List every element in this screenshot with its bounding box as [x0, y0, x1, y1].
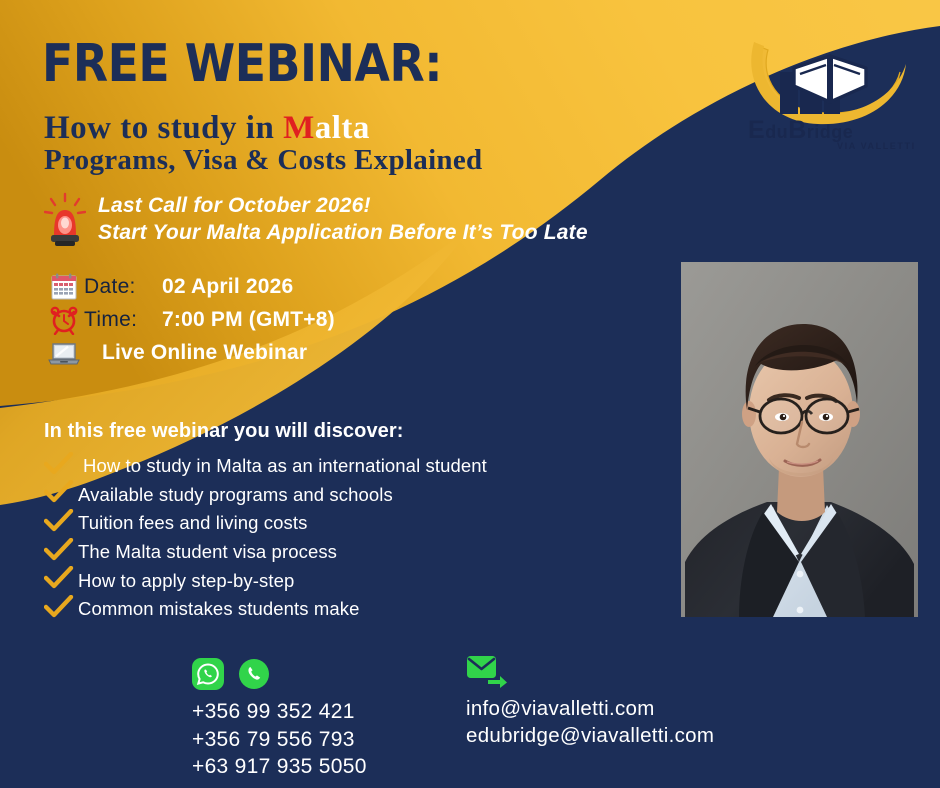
phone-number[interactable]: +356 79 556 793: [192, 726, 367, 754]
phone-number[interactable]: +63 917 935 5050: [192, 753, 367, 781]
event-format-value: Live Online Webinar: [102, 341, 307, 365]
phone-contact-block: +356 99 352 421 +356 79 556 793 +63 917 …: [192, 658, 367, 781]
urgency-line-2: Start Your Malta Application Before It’s…: [98, 220, 588, 247]
logo-tagline: VIA VALLETTI: [837, 141, 916, 151]
speaker-photo: [681, 262, 918, 617]
list-item-label: Tuition fees and living costs: [78, 512, 307, 534]
event-details: Date: 02 April 2026 Time: 7:00 PM (GMT+8…: [44, 270, 335, 369]
list-item-label: How to study in Malta as an internationa…: [78, 455, 487, 477]
event-date-label: Date:: [84, 275, 162, 299]
siren-light-icon: [44, 192, 86, 248]
list-item-label: How to apply step-by-step: [78, 570, 294, 592]
list-item: Common mistakes students make: [44, 595, 487, 624]
list-item: The Malta student visa process: [44, 538, 487, 567]
check-icon: [44, 538, 78, 567]
subtitle-line-1: How to study in Malta: [44, 110, 370, 147]
check-icon: [44, 452, 78, 481]
list-item: Tuition fees and living costs: [44, 509, 487, 538]
subtitle-prefix: How to study in: [44, 110, 283, 146]
event-time-label: Time:: [84, 308, 162, 332]
list-item-label: Available study programs and schools: [78, 484, 393, 506]
calendar-icon: [44, 272, 84, 302]
list-item-label: The Malta student visa process: [78, 541, 337, 563]
discover-heading: In this free webinar you will discover:: [44, 420, 404, 443]
check-icon: [44, 595, 78, 624]
event-time-row: Time: 7:00 PM (GMT+8): [44, 303, 335, 336]
email-address[interactable]: edubridge@viavalletti.com: [466, 722, 714, 749]
urgency-banner: Last Call for October 2026! Start Your M…: [44, 192, 588, 248]
event-format-row: Live Online Webinar: [44, 336, 335, 369]
check-icon: [44, 480, 78, 509]
page-title: FREE WEBINAR:: [42, 38, 442, 90]
webinar-poster: FREE WEBINAR: How to study in Malta Prog…: [0, 0, 940, 788]
phone-icon[interactable]: [238, 658, 270, 695]
whatsapp-icon[interactable]: [192, 658, 224, 695]
phone-icon-row: [192, 658, 367, 694]
event-date-value: 02 April 2026: [162, 275, 293, 299]
phone-number[interactable]: +356 99 352 421: [192, 698, 367, 726]
event-date-row: Date: 02 April 2026: [44, 270, 335, 303]
urgency-line-1: Last Call for October 2026!: [98, 193, 588, 220]
malta-rest: alta: [315, 110, 370, 146]
email-address[interactable]: info@viavalletti.com: [466, 695, 714, 722]
brand-logo[interactable]: EduBridge VIA VALLETTI: [742, 28, 922, 140]
email-addresses: info@viavalletti.com edubridge@viavallet…: [466, 695, 714, 749]
phone-numbers: +356 99 352 421 +356 79 556 793 +63 917 …: [192, 698, 367, 781]
list-item: How to apply step-by-step: [44, 566, 487, 595]
event-time-value: 7:00 PM (GMT+8): [162, 308, 335, 332]
alarm-clock-icon: [44, 305, 84, 335]
email-send-icon[interactable]: [466, 654, 508, 693]
email-icon-row: [466, 655, 714, 691]
laptop-icon: [44, 338, 84, 368]
list-item: How to study in Malta as an internationa…: [44, 452, 487, 481]
list-item: Available study programs and schools: [44, 481, 487, 510]
check-icon: [44, 566, 78, 595]
check-icon: [44, 509, 78, 538]
malta-initial: M: [283, 110, 315, 146]
email-contact-block: info@viavalletti.com edubridge@viavallet…: [466, 655, 714, 749]
urgency-text: Last Call for October 2026! Start Your M…: [98, 193, 588, 247]
discover-list: How to study in Malta as an internationa…: [44, 452, 487, 624]
list-item-label: Common mistakes students make: [78, 598, 360, 620]
subtitle-line-2: Programs, Visa & Costs Explained: [44, 145, 482, 177]
